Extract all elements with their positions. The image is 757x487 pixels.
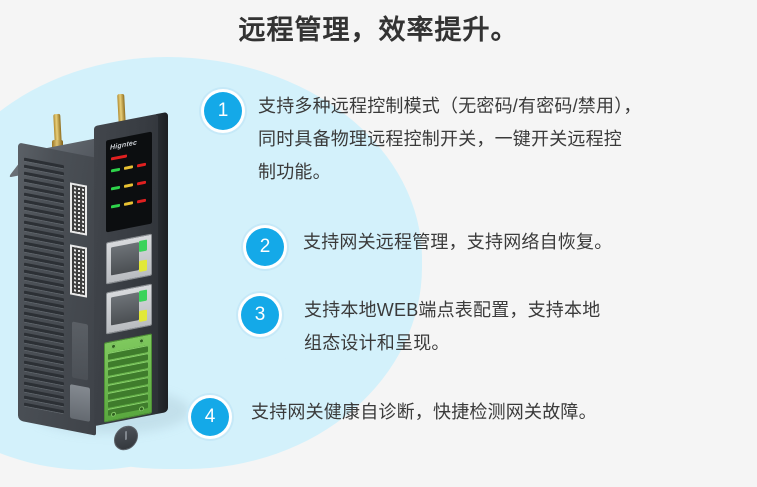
- power-led: [111, 154, 127, 160]
- status-led-yellow-2: [124, 183, 133, 188]
- feature-text-2: 支持网关远程管理，支持网络自恢复。: [303, 226, 612, 259]
- page-title: 远程管理，效率提升。: [0, 12, 757, 48]
- device-brand-label: Higntec: [110, 136, 148, 152]
- status-led-green-3: [111, 204, 120, 209]
- terminal-screw: [111, 343, 116, 349]
- status-led-green-1: [111, 168, 120, 173]
- ethernet-port-2-led-green: [139, 290, 147, 303]
- feature-text-3: 支持本地WEB端点表配置，支持本地 组态设计和呈现。: [304, 294, 690, 360]
- status-led-red-1: [137, 163, 146, 168]
- feature-text-1: 支持多种远程控制模式（无密码/有密码/禁用）， 同时具备物理远程控制开关，一键开…: [258, 90, 694, 189]
- status-led-red-2: [137, 181, 146, 186]
- terminal-screw: [139, 406, 144, 412]
- status-led-yellow-1: [124, 165, 133, 170]
- terminal-screw: [111, 411, 116, 417]
- status-led-green-2: [111, 186, 120, 191]
- feature-item-3: 3 支持本地WEB端点表配置，支持本地 组态设计和呈现。: [241, 294, 690, 360]
- feature-badge-3: 3: [241, 296, 279, 334]
- led-indicator-panel: Higntec: [106, 132, 152, 233]
- green-terminal-block: [104, 333, 152, 422]
- ethernet-port-1-led-yellow: [139, 260, 147, 273]
- ethernet-port-2-led-yellow: [139, 310, 147, 323]
- ethernet-port-1-led-green: [139, 240, 147, 253]
- side-brand-mark: [72, 321, 88, 380]
- heatsink-fins: [24, 158, 64, 416]
- feature-item-2: 2 支持网关远程管理，支持网络自恢复。: [246, 226, 612, 266]
- feature-badge-2: 2: [246, 228, 284, 266]
- feature-item-1: 1 支持多种远程控制模式（无密码/有密码/禁用）， 同时具备物理远程控制开关，一…: [204, 90, 694, 189]
- feature-text-4: 支持网关健康自诊断，快捷检测网关故障。: [251, 396, 597, 429]
- feature-badge-1: 1: [204, 92, 242, 130]
- terminal-screw: [139, 338, 144, 344]
- feature-badge-4: 4: [191, 398, 229, 436]
- feature-panel: 远程管理，效率提升。 Higntec: [0, 0, 757, 487]
- ethernet-port-2: [106, 284, 152, 335]
- din-rail-clip: [70, 384, 90, 422]
- feature-list: 1 支持多种远程控制模式（无密码/有密码/禁用）， 同时具备物理远程控制开关，一…: [186, 86, 746, 476]
- feature-item-4: 4 支持网关健康自诊断，快捷检测网关故障。: [191, 396, 597, 436]
- qr-label-lower: [70, 244, 87, 297]
- status-led-red-3: [137, 199, 146, 204]
- qr-label-upper: [70, 182, 87, 235]
- ethernet-port-1: [106, 234, 152, 285]
- status-led-yellow-3: [124, 201, 133, 206]
